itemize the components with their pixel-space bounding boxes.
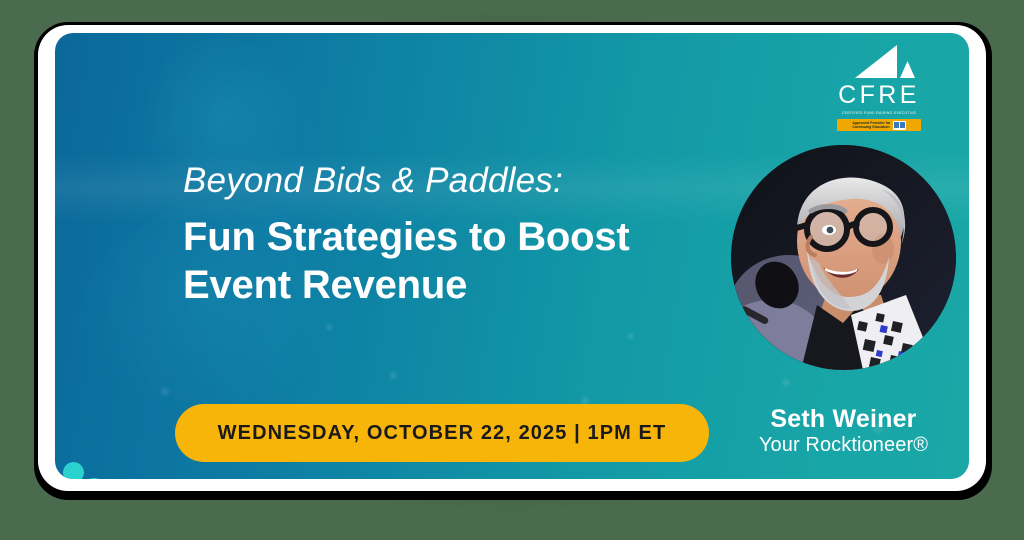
webinar-promo-banner: CFRE CERTIFIED FUND RAISING EXECUTIVE Ap… xyxy=(55,33,969,479)
headline-main-line-2: Event Revenue xyxy=(183,261,723,309)
cfre-logo: CFRE CERTIFIED FUND RAISING EXECUTIVE Ap… xyxy=(837,42,921,131)
open-book-icon xyxy=(893,121,906,130)
headline-main-line-1: Fun Strategies to Boost xyxy=(183,213,723,261)
headline-main: Fun Strategies to Boost Event Revenue xyxy=(183,213,723,309)
cfre-badge-line-2: Continuing Education xyxy=(852,125,890,129)
speaker-photo xyxy=(731,145,956,370)
event-date-label: WEDNESDAY, OCTOBER 22, 2025 | 1PM ET xyxy=(218,422,667,445)
speaker-name: Seth Weiner xyxy=(716,405,969,434)
event-date-pill[interactable]: WEDNESDAY, OCTOBER 22, 2025 | 1PM ET xyxy=(175,404,709,462)
cfre-sail-triangle-icon xyxy=(837,42,921,82)
headline-block: Beyond Bids & Paddles: Fun Strategies to… xyxy=(183,161,723,309)
cfre-tagline: CERTIFIED FUND RAISING EXECUTIVE xyxy=(837,111,921,115)
cfre-badge-text: Approved Provider for Continuing Educati… xyxy=(852,121,890,130)
cfre-wordmark: CFRE xyxy=(837,83,921,108)
headline-eyebrow: Beyond Bids & Paddles: xyxy=(183,161,723,201)
decorative-dot-2 xyxy=(82,478,106,479)
cfre-approved-provider-badge: Approved Provider for Continuing Educati… xyxy=(837,119,921,131)
speaker-title: Your Rocktioneer® xyxy=(716,434,969,457)
decorative-dot-1 xyxy=(63,462,84,479)
